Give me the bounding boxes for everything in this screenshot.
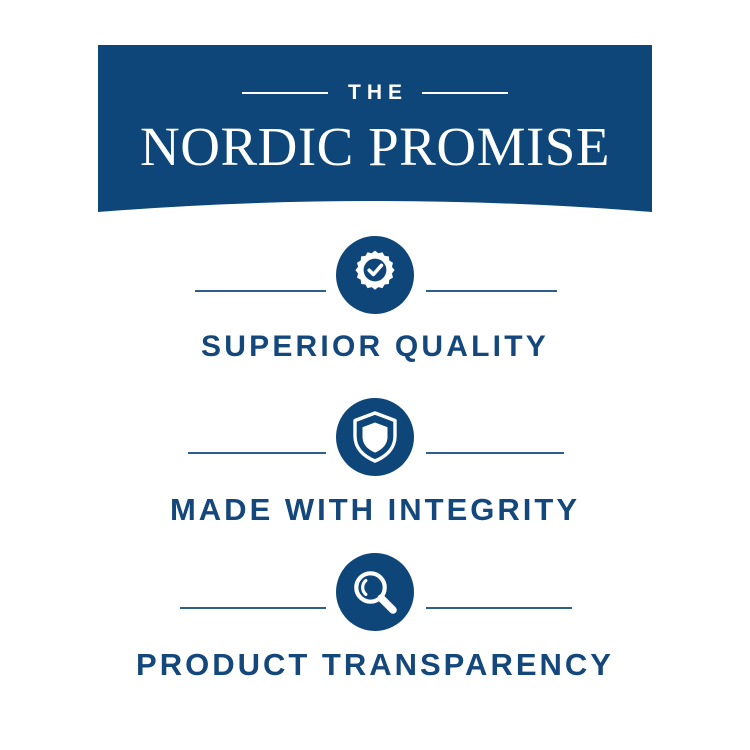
promise-row-superior-quality: SUPERIOR QUALITY [0, 232, 750, 318]
promise-label-product-transparency: PRODUCT TRANSPARENCY [0, 649, 750, 680]
icon-band [0, 232, 750, 318]
banner-eyebrow: THE [98, 82, 652, 103]
magnifier-glyph [350, 567, 400, 617]
eyebrow-rule-right [422, 92, 508, 94]
badge-check-icon [336, 236, 414, 314]
divider-right [426, 452, 564, 454]
promise-row-made-with-integrity: MADE WITH INTEGRITY [0, 394, 750, 480]
divider-right [426, 290, 557, 292]
badge-check-glyph [349, 249, 401, 301]
promise-label-made-with-integrity: MADE WITH INTEGRITY [0, 494, 750, 525]
icon-band [0, 394, 750, 480]
eyebrow-label: THE [342, 82, 408, 103]
divider-right [426, 607, 572, 609]
icon-band [0, 549, 750, 635]
banner-title: NORDIC PROMISE [140, 118, 610, 176]
shield-glyph [351, 411, 399, 463]
magnifier-icon [336, 553, 414, 631]
divider-left [195, 290, 326, 292]
banner: THE NORDIC PROMISE [0, 0, 750, 230]
promise-label-superior-quality: SUPERIOR QUALITY [0, 332, 750, 362]
promise-row-product-transparency: PRODUCT TRANSPARENCY [0, 549, 750, 635]
shield-icon [336, 398, 414, 476]
divider-left [180, 607, 326, 609]
nordic-promise-graphic: THE NORDIC PROMISE SUPERIOR QUALITY [0, 0, 750, 750]
banner-content: THE NORDIC PROMISE [98, 45, 652, 195]
divider-left [188, 452, 326, 454]
eyebrow-rule-left [242, 92, 328, 94]
